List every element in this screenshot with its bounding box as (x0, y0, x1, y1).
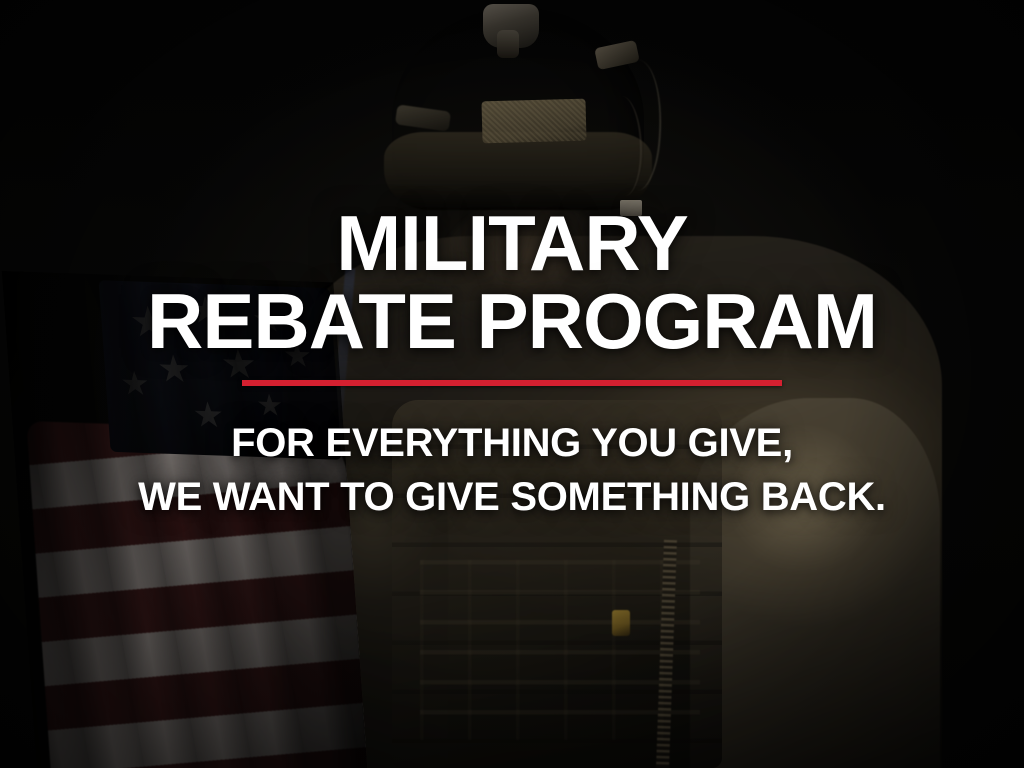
headline-line-1: MILITARY (147, 206, 877, 282)
subtitle-line-2: WE WANT TO GIVE SOMETHING BACK. (138, 472, 886, 522)
poster-content: MILITARY REBATE PROGRAM FOR EVERYTHING Y… (0, 0, 1024, 768)
red-divider-rule (242, 380, 782, 386)
military-rebate-poster: MILITARY REBATE PROGRAM FOR EVERYTHING Y… (0, 0, 1024, 768)
page-title: MILITARY REBATE PROGRAM (147, 206, 877, 359)
page-subtitle: FOR EVERYTHING YOU GIVE, WE WANT TO GIVE… (138, 418, 886, 522)
subtitle-line-1: FOR EVERYTHING YOU GIVE, (138, 418, 886, 468)
headline-line-2: REBATE PROGRAM (147, 284, 877, 360)
